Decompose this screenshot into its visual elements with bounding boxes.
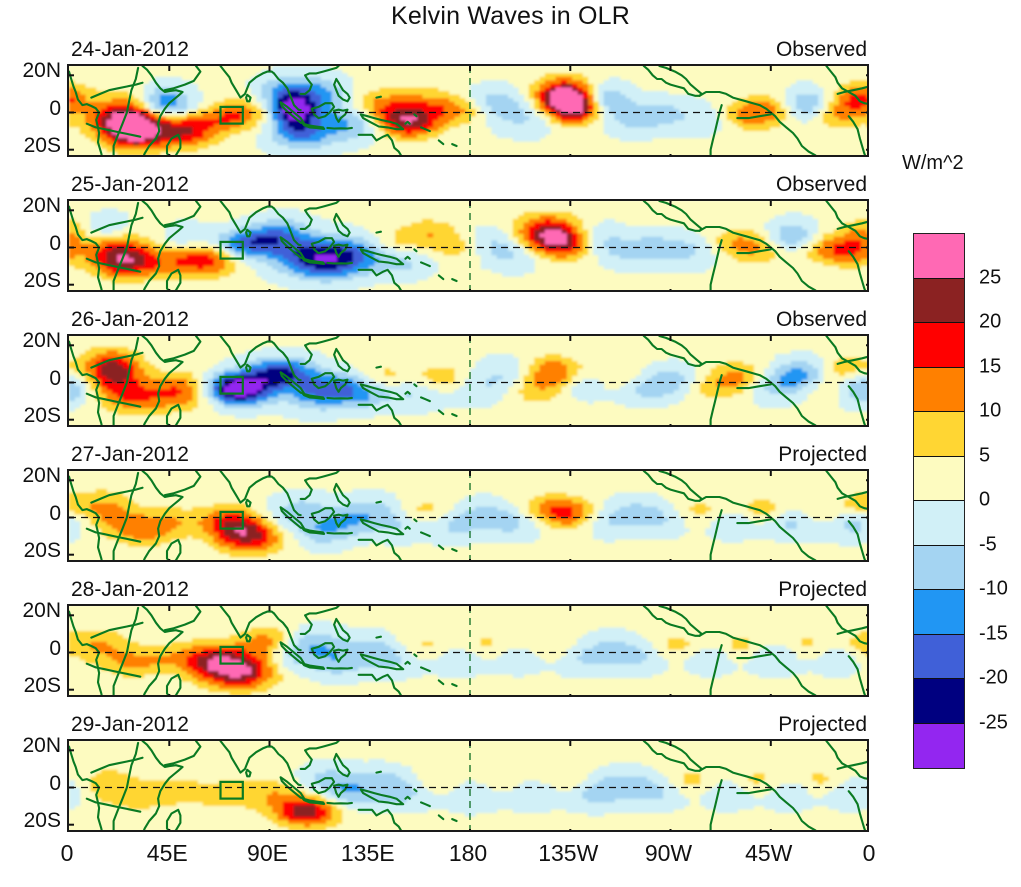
colorbar-band-1 [914, 279, 964, 324]
colorbar: W/m^2 2520151050-5-10-15-20-25 [0, 0, 1021, 887]
colorbar-band-3 [914, 368, 964, 413]
colorbar-band-11 [914, 724, 964, 769]
colorbar-tick-label-8: -15 [979, 622, 1008, 645]
colorbar-band-8 [914, 590, 964, 635]
colorbar-tick-label-9: -20 [979, 667, 1008, 690]
colorbar-band-2 [914, 323, 964, 368]
colorbar-band-7 [914, 546, 964, 591]
colorbar-tick-label-0: 25 [979, 266, 1001, 289]
colorbar-tick-label-3: 10 [979, 400, 1001, 423]
colorbar-tick-label-10: -25 [979, 711, 1008, 734]
colorbar-tick-label-4: 5 [979, 444, 990, 467]
colorbar-band-10 [914, 679, 964, 724]
colorbar-band-6 [914, 501, 964, 546]
colorbar-tick-label-5: 0 [979, 489, 990, 512]
colorbar-band-5 [914, 457, 964, 502]
colorbar-units-label: W/m^2 [902, 152, 964, 175]
colorbar-band-4 [914, 412, 964, 457]
colorbar-tick-label-2: 15 [979, 355, 1001, 378]
figure-root: Kelvin Waves in OLR 24-Jan-2012Observed2… [0, 0, 1021, 887]
colorbar-bands [913, 233, 965, 769]
colorbar-tick-label-1: 20 [979, 311, 1001, 334]
colorbar-tick-label-7: -10 [979, 578, 1008, 601]
colorbar-tick-label-6: -5 [979, 533, 997, 556]
colorbar-band-0 [914, 234, 964, 279]
colorbar-band-9 [914, 635, 964, 680]
